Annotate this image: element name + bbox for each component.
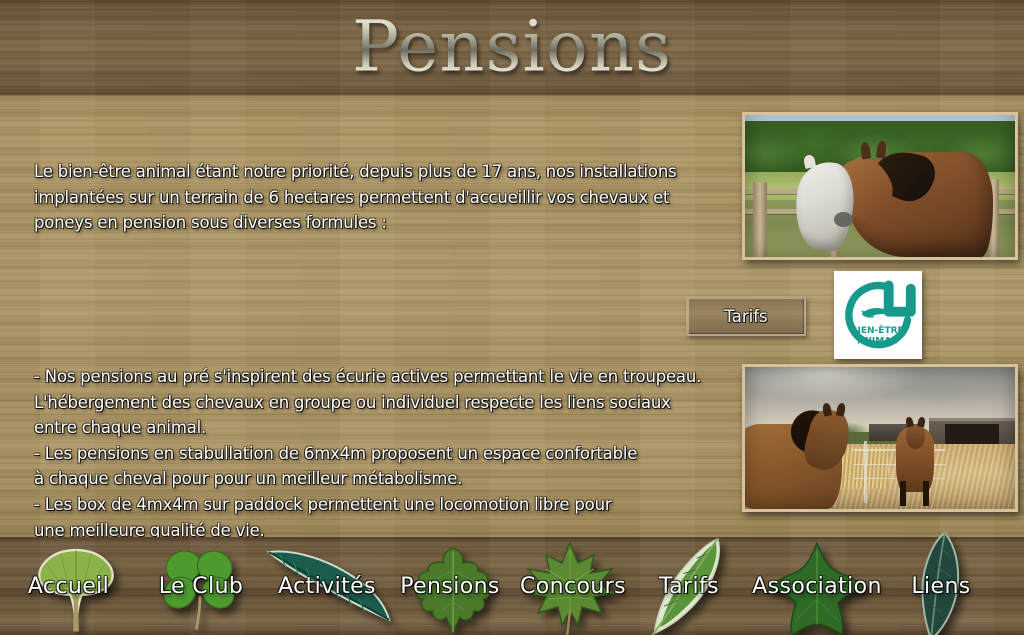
photo-horses-paddock-image <box>745 115 1015 257</box>
nav-item-activites-label: Activités <box>278 574 376 599</box>
logo-hook-icon <box>889 285 911 311</box>
logo-line1: BIEN-ÊTRE <box>851 324 904 336</box>
nav-item-tarifs-label: Tarifs <box>659 574 719 599</box>
nav-item-pensions[interactable]: Pensions <box>394 537 506 635</box>
page-title: Pensions <box>0 12 1024 82</box>
nav-item-concours[interactable]: Concours <box>512 537 634 635</box>
nav-item-association-label: Association <box>752 574 882 599</box>
nav-item-accueil[interactable]: Accueil <box>6 537 131 635</box>
nav-item-le-club-label: Le Club <box>159 574 244 599</box>
logo-line2: ANIMAL <box>857 337 897 347</box>
photo1-fence-post <box>753 182 767 257</box>
tarifs-button-label: Tarifs <box>724 307 767 326</box>
photo2-horse-right-leg <box>900 481 906 507</box>
paragraph-intro: Le bien-être animal étant notre priorité… <box>34 159 724 236</box>
bien-etre-animal-logo-svg: BIEN-ÊTRE ANIMAL <box>837 274 919 356</box>
paragraph-spacer <box>34 287 724 313</box>
nav-item-le-club[interactable]: Le Club <box>142 537 260 635</box>
nav-item-association[interactable]: Association <box>744 537 890 635</box>
page-root: Pensions Le bien-être animal étant notre… <box>0 0 1024 635</box>
photo-horses-hay <box>742 364 1018 512</box>
nav-item-tarifs[interactable]: Tarifs <box>637 537 741 635</box>
photo-horses-hay-image <box>745 367 1015 509</box>
nav-item-liens-label: Liens <box>911 574 970 599</box>
photo-horses-paddock <box>742 112 1018 260</box>
photo2-horse-right-head <box>906 424 925 450</box>
bien-etre-animal-logo: BIEN-ÊTRE ANIMAL <box>834 271 922 359</box>
photo2-horse-right-leg <box>923 481 929 507</box>
page-header: Pensions <box>0 0 1024 96</box>
photo1-grey-muzzle <box>834 212 853 228</box>
tarifs-button[interactable]: Tarifs <box>686 296 806 336</box>
nav-item-accueil-label: Accueil <box>28 574 109 599</box>
nav-item-pensions-label: Pensions <box>400 574 500 599</box>
paragraph-formulas: - Nos pensions au pré s'inspirent des éc… <box>34 364 724 543</box>
nav-item-activites[interactable]: Activités <box>263 537 391 635</box>
nav-item-concours-label: Concours <box>520 574 626 599</box>
nav-item-liens[interactable]: Liens <box>893 537 989 635</box>
